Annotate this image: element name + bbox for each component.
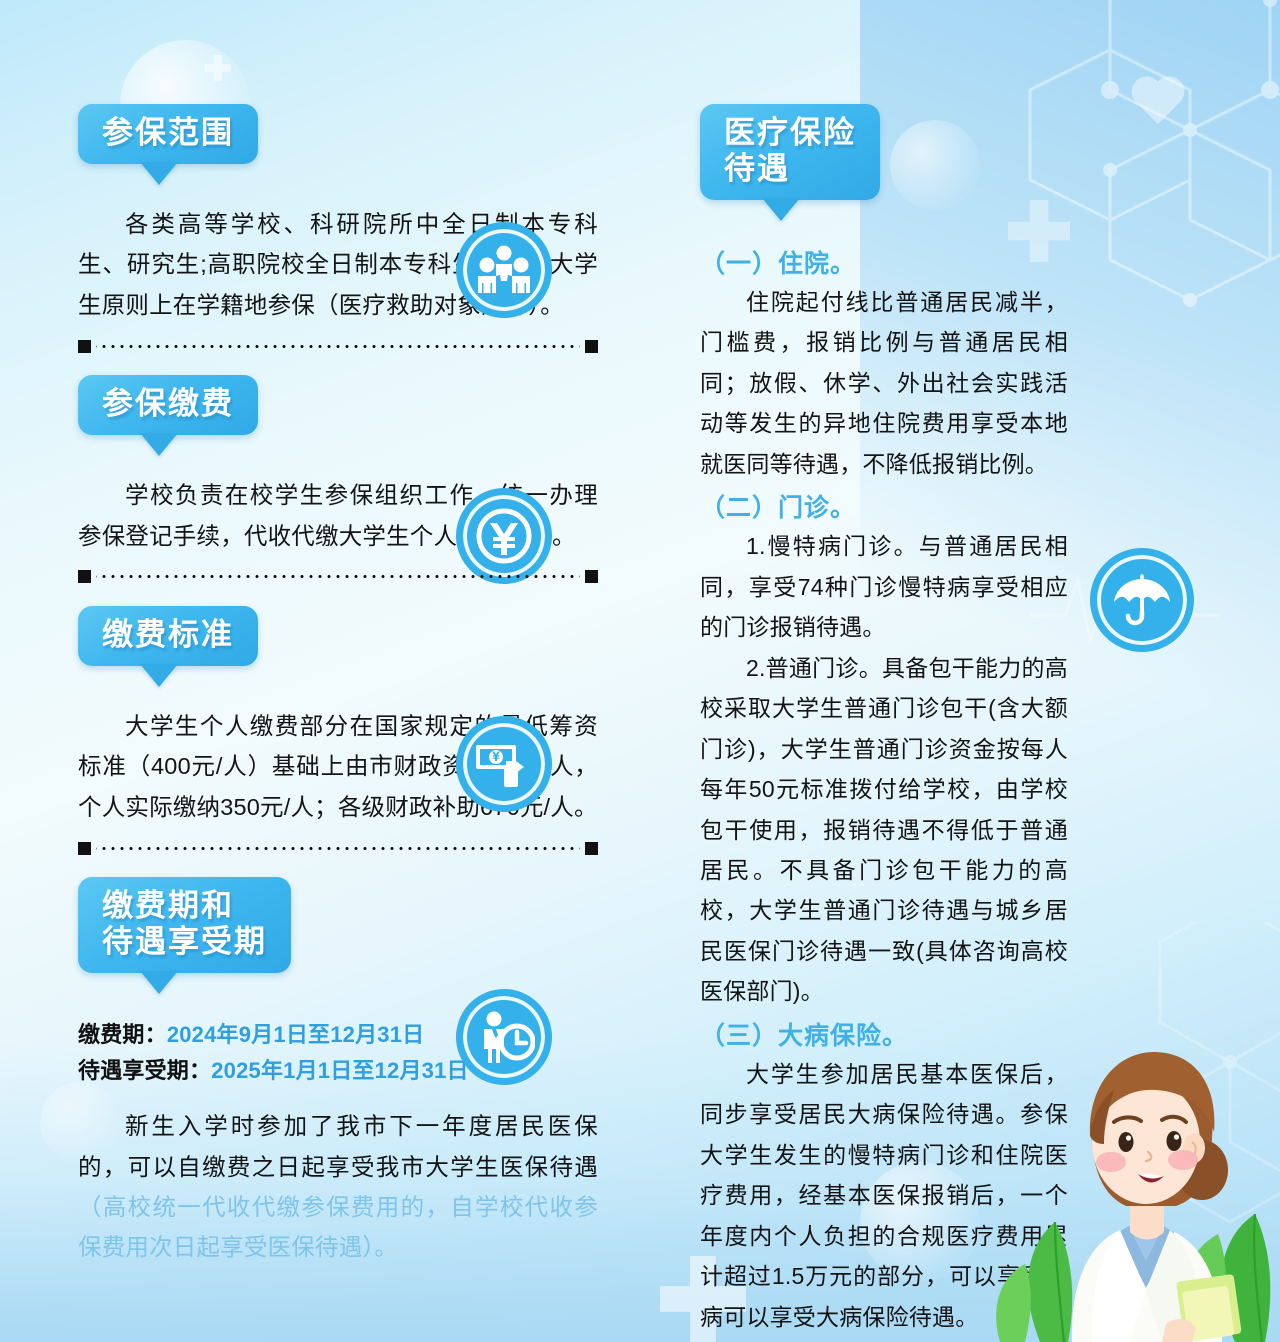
divider-dots [96,345,580,348]
badge-tail [140,664,178,687]
section-badge-label: 缴费期和 待遇享受期 [102,888,267,960]
umbrella-icon [1090,548,1194,652]
section-payment-period: 缴费期和 待遇享受期 缴费期：2024年9月1日至12月31日 [78,877,598,1268]
person-clock-icon [456,989,552,1085]
section-badge-payment: 参保缴费 [78,375,258,435]
section-badge-label: 参保范围 [102,115,234,151]
period-body-muted: （高校统一代收代缴参保费用的，自学校代收参保费用次日起享受医保待遇） [78,1194,598,1260]
section-payment-standard: 缴费标准 大学生个人缴费部分在国家规定的最低筹资标准（400元/人）基础上由市财… [78,606,598,827]
period-body-part-1: 新生入学时参加了我市下一年度居民医保的，可以自缴费之日起享受我市大学生医保待遇 [78,1113,598,1179]
left-column: 参保范围 各类高等学校、科研院所中全日制本专科生、研究生;高职院校全日制本专科生… [78,104,598,1268]
divider-cap-left [78,340,91,353]
right-body: （一）住院。 住院起付线比普通居民减半，门槛费，报销比例与普通居民相同；放假、休… [700,244,1068,1337]
section-divider [78,841,598,855]
badge-wrap: 参保缴费 [78,375,258,435]
subsection-heading-outpatient: （二）门诊。 [700,488,1068,524]
banknote-hand-icon [456,716,552,812]
period-value: 2024年9月1日至12月31日 [167,1022,425,1047]
section-badge-medical-benefits: 医疗保险 待遇 [700,104,880,200]
divider-cap-right [585,842,598,855]
divider-cap-left [78,570,91,583]
divider-cap-right [585,340,598,353]
poster-page: 参保范围 各类高等学校、科研院所中全日制本专科生、研究生;高职院校全日制本专科生… [0,0,1280,1342]
badge-tail [140,162,178,185]
section-badge-label: 参保缴费 [102,386,234,422]
divider-dots [96,847,580,850]
divider-dots [96,575,580,578]
badge-tail [140,433,178,456]
badge-tail [762,198,800,221]
section-badge-period: 缴费期和 待遇享受期 [78,877,291,973]
subsection-heading-critical-illness: （三）大病保险。 [700,1016,1068,1052]
section-enrollment-payment: 参保缴费 学校负责在校学生参保组织工作，统一办理参保登记手续，代收代缴大学生个人… [78,375,598,556]
badge-tail [140,971,178,994]
subsection-body-critical-illness: 大学生参加居民基本医保后，同步享受居民大病保险待遇。参保大学生发生的慢特病门诊和… [700,1054,1068,1337]
people-group-icon [456,222,552,318]
section-body-period: 新生入学时参加了我市下一年度居民医保的，可以自缴费之日起享受我市大学生医保待遇（… [78,1106,598,1268]
section-badge-label: 缴费标准 [102,617,234,653]
badge-wrap: 缴费期和 待遇享受期 [78,877,291,973]
divider-cap-left [78,842,91,855]
section-badge-standard: 缴费标准 [78,606,258,666]
section-badge-label: 医疗保险 待遇 [724,115,856,187]
subsection-body-outpatient-2: 2.普通门诊。具备包干能力的高校采取大学生普通门诊包干(含大额门诊)，大学生普通… [700,648,1068,1012]
period-body-part-2: 。 [374,1234,398,1260]
period-label: 待遇享受期： [78,1058,211,1083]
section-divider [78,339,598,353]
section-divider [78,570,598,584]
period-label: 缴费期： [78,1022,167,1047]
badge-wrap: 医疗保险 待遇 [700,104,880,200]
subsection-heading-inpatient: （一）住院。 [700,244,1068,280]
right-column: 医疗保险 待遇 （一）住院。 住院起付线比普通居民减半，门槛费，报销比例与普通居… [700,104,1068,1337]
subsection-body-inpatient: 住院起付线比普通居民减半，门槛费，报销比例与普通居民相同；放假、休学、外出社会实… [700,282,1068,484]
subsection-body-outpatient-1: 1.慢特病门诊。与普通居民相同，享受74种门诊慢特病享受相应的门诊报销待遇。 [700,526,1068,647]
section-scope-of-coverage: 参保范围 各类高等学校、科研院所中全日制本专科生、研究生;高职院校全日制本专科生… [78,104,598,325]
badge-wrap: 参保范围 [78,104,258,164]
period-value: 2025年1月1日至12月31日 [211,1058,469,1083]
divider-cap-right [585,570,598,583]
section-badge-scope: 参保范围 [78,104,258,164]
badge-wrap: 缴费标准 [78,606,258,666]
